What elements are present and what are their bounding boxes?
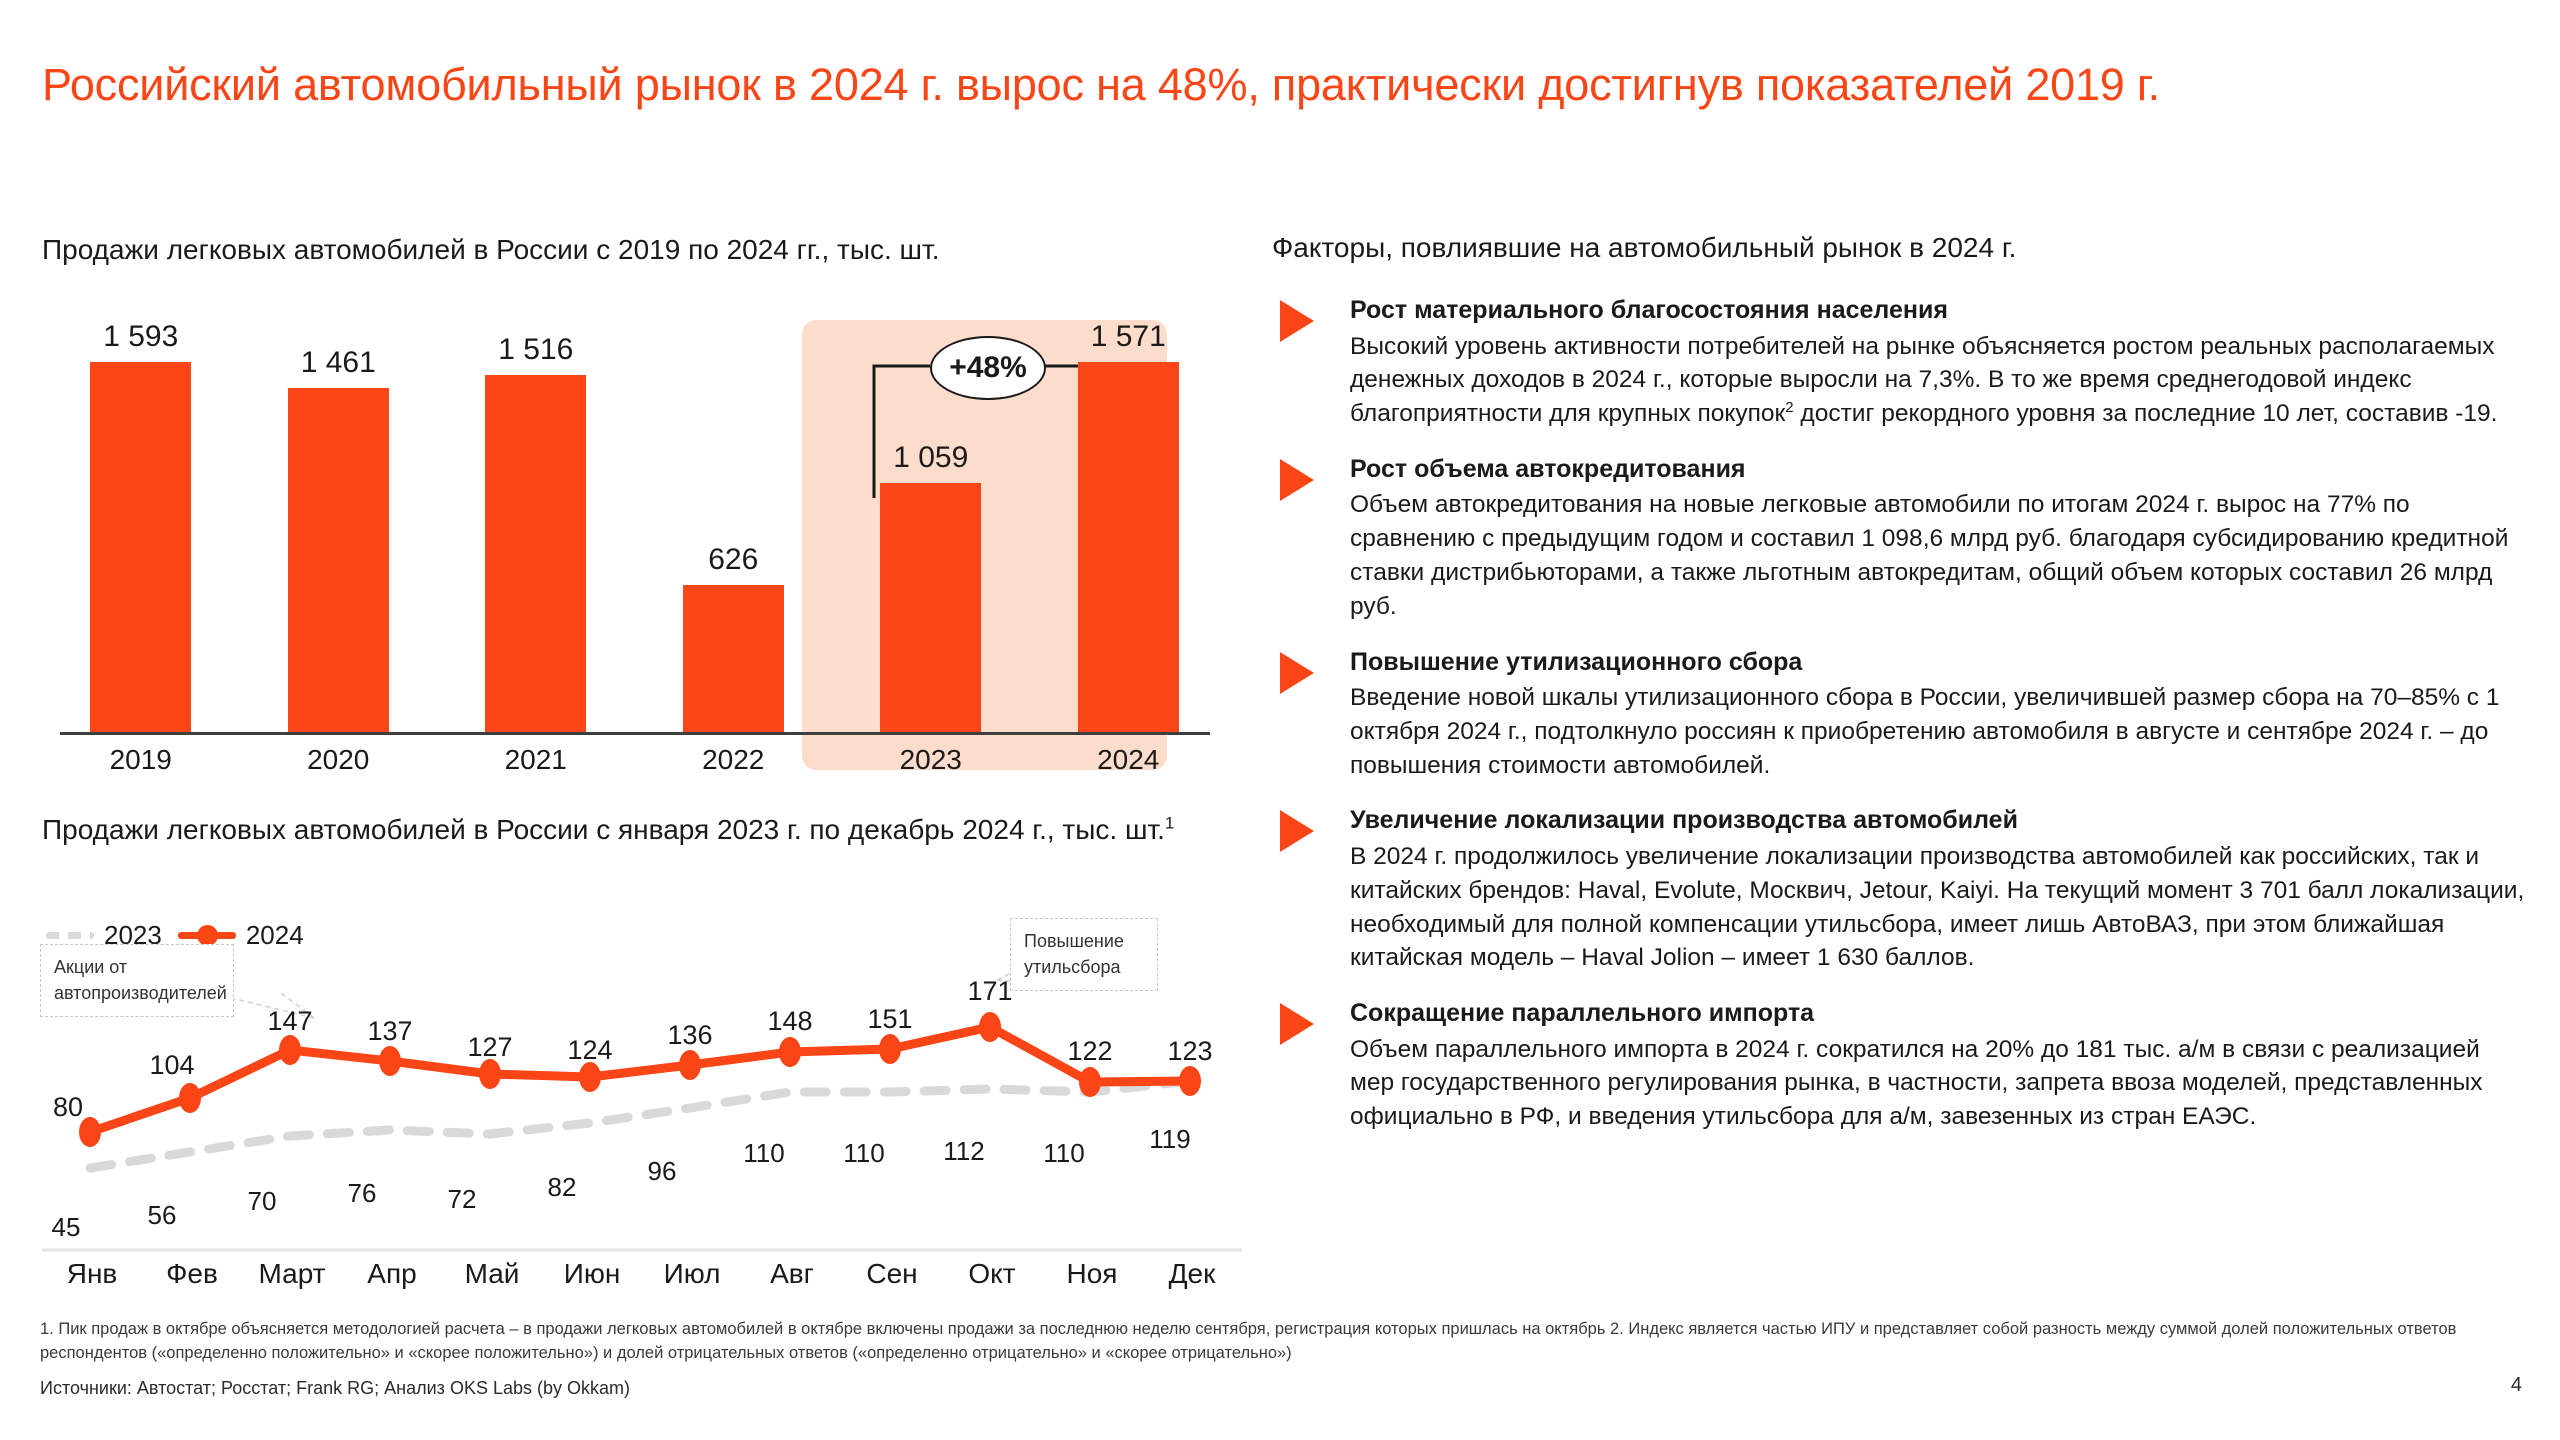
month-label: Март — [242, 1258, 342, 1290]
footnote-text: 1. Пик продаж в октябре объясняется мето… — [40, 1318, 2500, 1366]
line-point-label-2024: 80 — [53, 1092, 83, 1123]
page-title: Российский автомобильный рынок в 2024 г.… — [42, 58, 2442, 113]
triangle-bullet-icon — [1280, 652, 1314, 694]
line-chart-heading-line1: Продажи легковых автомобилей в России с … — [42, 814, 954, 845]
line-point-label-2024: 171 — [967, 976, 1012, 1007]
bar-chart-heading: Продажи легковых автомобилей в России с … — [42, 232, 1232, 268]
factor-title: Сокращение параллельного импорта — [1350, 997, 2527, 1030]
line-point-label-2023: 110 — [1043, 1138, 1084, 1169]
month-label: Июл — [642, 1258, 742, 1290]
triangle-bullet-icon — [1280, 810, 1314, 852]
factor-title: Рост объема автокредитования — [1350, 453, 2527, 486]
factor-body: В 2024 г. продолжилось увеличение локали… — [1350, 840, 2527, 975]
month-label: Фев — [142, 1258, 242, 1290]
line-point-label-2023: 110 — [843, 1138, 884, 1169]
triangle-bullet-icon — [1280, 1003, 1314, 1045]
factor-item-welfare-growth: Рост материального благосостояния населе… — [1272, 294, 2527, 431]
sources-text: Источники: Автостат; Росстат; Frank RG; … — [40, 1378, 1640, 1399]
factor-title: Рост материального благосостояния населе… — [1350, 294, 2527, 327]
annotation-line-2: утильсбора — [1024, 954, 1145, 980]
bar-item: 1 461 — [240, 320, 438, 732]
month-label: Июн — [542, 1258, 642, 1290]
bar-axis-label: 2019 — [42, 744, 240, 776]
bar-axis-label: 2021 — [437, 744, 635, 776]
bar-item: 1 516 — [437, 320, 635, 732]
line-point-label-2024: 104 — [149, 1050, 194, 1081]
line-point-label-2024: 137 — [367, 1016, 412, 1047]
bar-rect — [1078, 362, 1179, 732]
annotation-line-2: автопроизводителей — [54, 980, 221, 1006]
factors-panel: Факторы, повлиявшие на автомобильный рын… — [1272, 232, 2527, 1156]
bar-axis-label: 2024 — [1030, 744, 1228, 776]
line-point-label-2023: 56 — [148, 1200, 177, 1231]
bar-axis-labels: 2019 2020 2021 2022 2023 2024 — [42, 744, 1227, 776]
bar-axis-label: 2023 — [832, 744, 1030, 776]
bar-rect — [90, 362, 191, 732]
bar-chart-heading-wrap: Продажи легковых автомобилей в России с … — [42, 232, 1232, 268]
line-point-label-2024: 127 — [467, 1032, 512, 1063]
line-point-label-2023: 110 — [743, 1138, 784, 1169]
annotation-line-1: Повышение — [1024, 928, 1145, 954]
line-chart-heading-wrap: Продажи легковых автомобилей в России с … — [42, 812, 1247, 848]
month-label: Дек — [1142, 1258, 1242, 1290]
month-label: Сен — [842, 1258, 942, 1290]
month-label: Авг — [742, 1258, 842, 1290]
bar-plot: 1 593 1 461 1 516 626 1 059 1 571 — [42, 320, 1227, 732]
line-point-label-2024: 124 — [567, 1035, 612, 1066]
annotation-box-recycling-fee: Повышение утильсбора — [1010, 918, 1158, 991]
line-point-label-2023: 96 — [648, 1156, 677, 1187]
line-series-2024-markers — [79, 1012, 1201, 1147]
bar-rect — [880, 483, 981, 732]
annotation-box-promotions: Акции от автопроизводителей — [40, 944, 234, 1017]
line-point-label-2024: 148 — [767, 1006, 812, 1037]
bar-value-label: 1 571 — [1091, 320, 1166, 354]
line-series-2024 — [90, 1027, 1190, 1132]
bar-rect — [288, 388, 389, 732]
factor-title: Увеличение локализации производства авто… — [1350, 804, 2527, 837]
legend-dashed-swatch-icon — [46, 932, 94, 939]
bar-item: 626 — [635, 320, 833, 732]
factor-body: Введение новой шкалы утилизационного сбо… — [1350, 681, 2527, 782]
month-label: Окт — [942, 1258, 1042, 1290]
line-point-label-2024: 123 — [1167, 1036, 1212, 1067]
bar-value-label: 626 — [708, 543, 758, 577]
line-chart: 80 104 147 137 127 124 136 148 151 171 1… — [42, 950, 1242, 1300]
bar-item: 1 571 — [1030, 320, 1228, 732]
factor-item-parallel-import: Сокращение параллельного импорта Объем п… — [1272, 997, 2527, 1134]
triangle-bullet-icon — [1280, 459, 1314, 501]
factors-heading: Факторы, повлиявшие на автомобильный рын… — [1272, 232, 2527, 264]
line-chart-month-axis: Янв Фев Март Апр Май Июн Июл Авг Сен Окт… — [42, 1258, 1242, 1290]
factor-body-post: достиг рекордного уровня за последние 10… — [1794, 400, 2498, 427]
line-chart-heading: Продажи легковых автомобилей в России с … — [42, 812, 1247, 848]
factor-footnote-marker: 2 — [1785, 399, 1793, 416]
line-point-label-2023: 70 — [248, 1186, 277, 1217]
factor-body: Объем параллельного импорта в 2024 г. со… — [1350, 1033, 2527, 1134]
growth-badge: +48% — [930, 336, 1046, 400]
page-number: 4 — [2511, 1374, 2522, 1397]
line-point-label-2024: 151 — [867, 1004, 912, 1035]
bar-axis-line — [60, 732, 1210, 735]
bar-item: 1 593 — [42, 320, 240, 732]
line-point-label-2023: 119 — [1149, 1124, 1190, 1155]
month-label: Апр — [342, 1258, 442, 1290]
line-point-label-2023: 72 — [448, 1184, 477, 1215]
line-point-label-2023: 82 — [548, 1172, 577, 1203]
bar-chart: +48% 1 593 1 461 1 516 626 1 059 — [42, 300, 1227, 780]
legend-label: 2024 — [246, 920, 304, 951]
bar-rect — [485, 375, 586, 732]
bar-value-label: 1 516 — [498, 333, 573, 367]
annotation-line-1: Акции от — [54, 954, 221, 980]
line-point-label-2023: 76 — [348, 1178, 377, 1209]
bar-value-label: 1 461 — [301, 346, 376, 380]
factor-item-localization: Увеличение локализации производства авто… — [1272, 804, 2527, 975]
triangle-bullet-icon — [1280, 300, 1314, 342]
bar-axis-label: 2022 — [635, 744, 833, 776]
bar-rect — [683, 585, 784, 732]
line-chart-heading-line2: 2024 г., тыс. шт. — [962, 814, 1165, 845]
month-label: Май — [442, 1258, 542, 1290]
line-chart-heading-footnote-marker: 1 — [1165, 814, 1174, 833]
month-label: Янв — [42, 1258, 142, 1290]
line-point-label-2024: 147 — [267, 1006, 312, 1037]
bar-value-label: 1 593 — [103, 320, 178, 354]
factor-item-auto-lending: Рост объема автокредитования Объем авток… — [1272, 453, 2527, 624]
month-label: Ноя — [1042, 1258, 1142, 1290]
factor-item-recycling-fee: Повышение утилизационного сбора Введение… — [1272, 646, 2527, 783]
factor-body: Объем автокредитования на новые легковые… — [1350, 488, 2527, 623]
line-point-label-2023: 45 — [52, 1212, 81, 1243]
legend-solid-marker-swatch-icon — [178, 932, 236, 939]
line-point-label-2023: 112 — [943, 1136, 984, 1167]
line-series-2023 — [90, 1081, 1190, 1168]
factor-title: Повышение утилизационного сбора — [1350, 646, 2527, 679]
line-point-label-2024: 136 — [667, 1020, 712, 1051]
line-point-label-2024: 122 — [1067, 1036, 1112, 1067]
factor-body: Высокий уровень активности потребителей … — [1350, 330, 2527, 431]
slide-root: Российский автомобильный рынок в 2024 г.… — [0, 0, 2560, 1440]
bar-axis-label: 2020 — [240, 744, 438, 776]
bar-value-label: 1 059 — [893, 441, 968, 475]
